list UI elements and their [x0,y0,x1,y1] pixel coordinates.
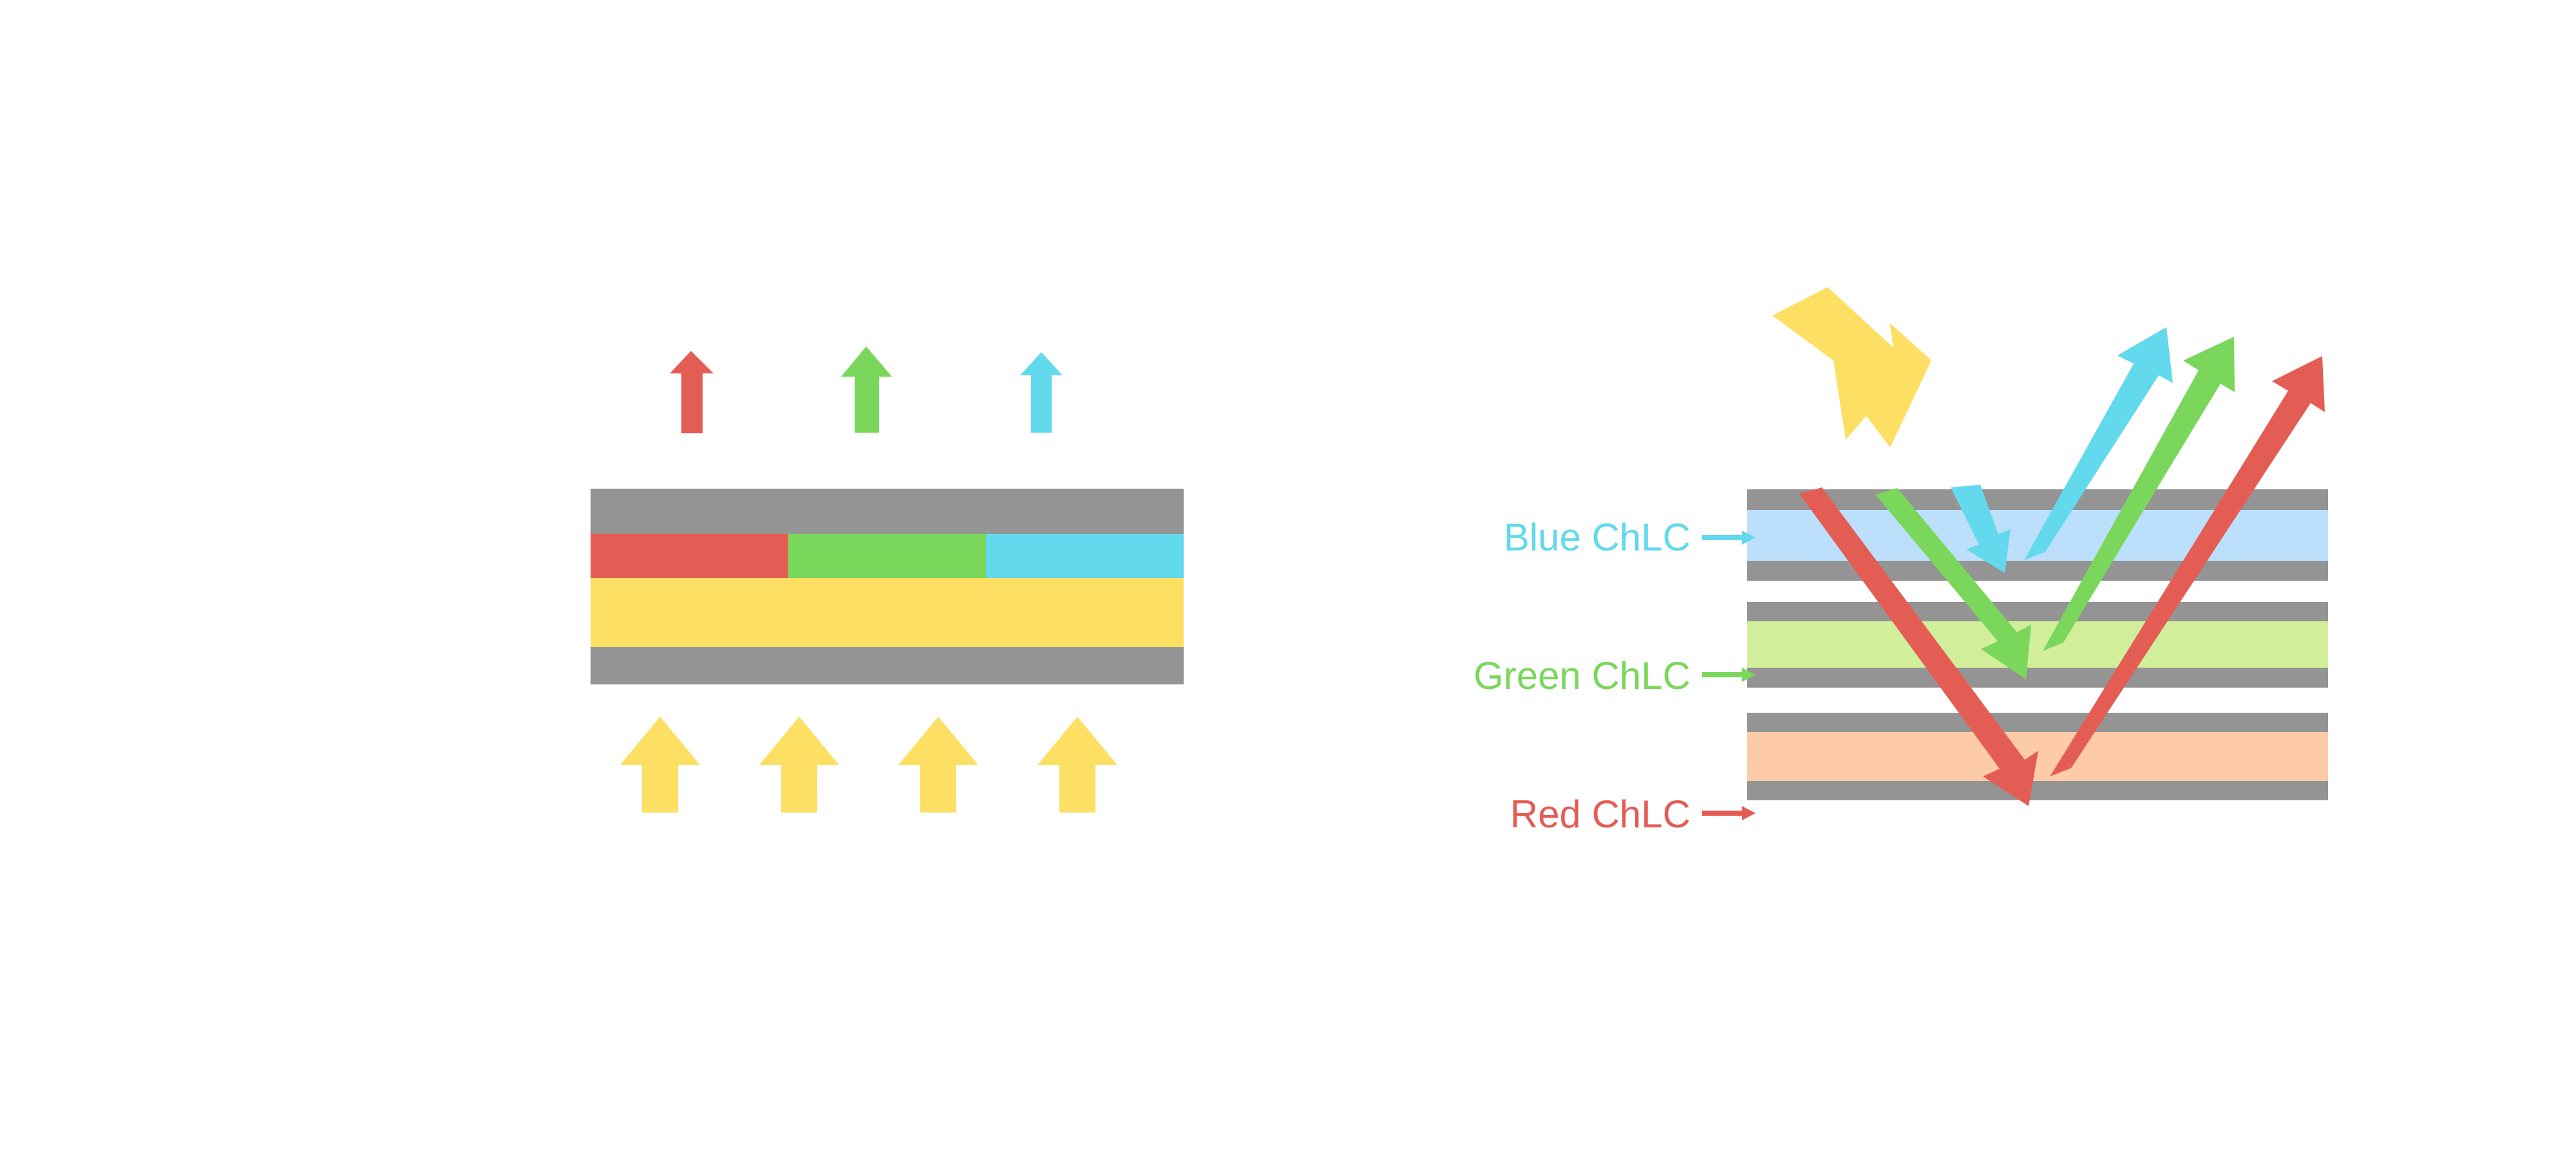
red-cell-top-substrate [1747,713,2328,732]
blue-cell-bottom-substrate [1747,561,2328,581]
blue-filter [986,534,1184,578]
green-filter [788,534,986,578]
green-cell-top-substrate [1747,602,2328,621]
green-chlc-layer [1747,621,2328,668]
green-cell-bottom-substrate [1747,668,2328,688]
green-chlc-label: Green ChLC [1473,654,1690,697]
top-electrode [591,489,1184,534]
figure-canvas: Blue ChLC Green ChLC Red ChLC [0,0,2576,1154]
diagram-svg: Blue ChLC Green ChLC Red ChLC [0,0,2576,1154]
red-chlc-layer [1747,732,2328,781]
red-cell-bottom-substrate [1747,781,2328,800]
red-chlc-label: Red ChLC [1510,793,1690,836]
red-filter [591,534,788,578]
bottom-electrode [591,647,1184,684]
blue-chlc-label: Blue ChLC [1504,516,1690,559]
backlight-layer [591,578,1184,647]
left-stack [591,489,1184,684]
